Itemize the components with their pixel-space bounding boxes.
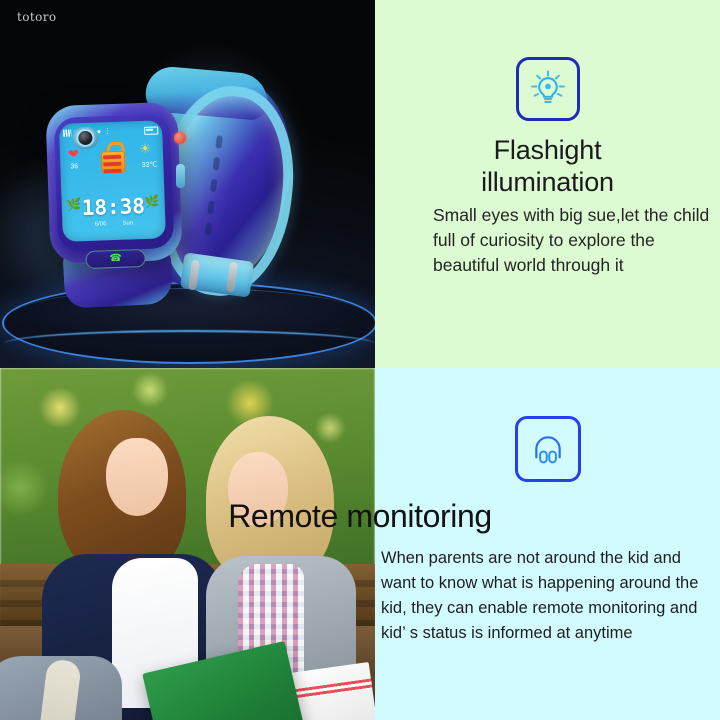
flashlight-title: Flashight illumination [375, 135, 720, 199]
signal-bars-icon [63, 129, 71, 136]
heart-icon: ❤ [68, 147, 79, 160]
steps-icon: ⋮ [104, 128, 111, 135]
watch-weekday: Sun [122, 220, 133, 226]
watch-case: ▿ ⏱ B ● ⋮ ❤ 36 [45, 102, 182, 265]
sun-icon: ☀ [139, 142, 151, 155]
flashlight-icon-container [375, 57, 720, 121]
lightbulb-icon [516, 57, 580, 121]
remote-icon-container [375, 416, 720, 482]
lock-icon [100, 142, 127, 175]
remote-monitoring-description: When parents are not around the kid and … [381, 546, 712, 646]
kids-photo [0, 368, 375, 720]
product-feature-collage: ▿ ⏱ B ● ⋮ ❤ 36 [0, 0, 720, 720]
smart-watch: ▿ ⏱ B ● ⋮ ❤ 36 [42, 72, 292, 312]
watch-date-number: 6/06 [95, 221, 107, 227]
kids-reading-photo-panel [0, 368, 375, 720]
watch-call-button: ☎ [85, 249, 146, 269]
heart-rate-value: 36 [70, 163, 78, 170]
flashlight-title-line2: illumination [375, 167, 720, 199]
watch-side-button [176, 164, 185, 188]
flashlight-title-line1: Flashight [375, 135, 720, 167]
watch-sos-button [174, 132, 186, 144]
watermark-text: totoro [17, 10, 56, 24]
temperature-value: 33℃ [142, 160, 158, 169]
battery-icon [144, 126, 158, 134]
headphones-icon [515, 416, 581, 482]
remote-monitoring-title: Remote monitoring [0, 500, 720, 532]
watch-date: 6/06 Sun [62, 216, 165, 232]
remote-monitoring-feature-panel [375, 368, 720, 720]
watch-product-photo-panel: ▿ ⏱ B ● ⋮ ❤ 36 [0, 0, 375, 368]
podium-rim [4, 330, 375, 358]
flashlight-description: Small eyes with big sue,let the child fu… [433, 203, 710, 278]
flashlight-feature-panel: Flashight illumination Small eyes with b… [375, 0, 720, 368]
